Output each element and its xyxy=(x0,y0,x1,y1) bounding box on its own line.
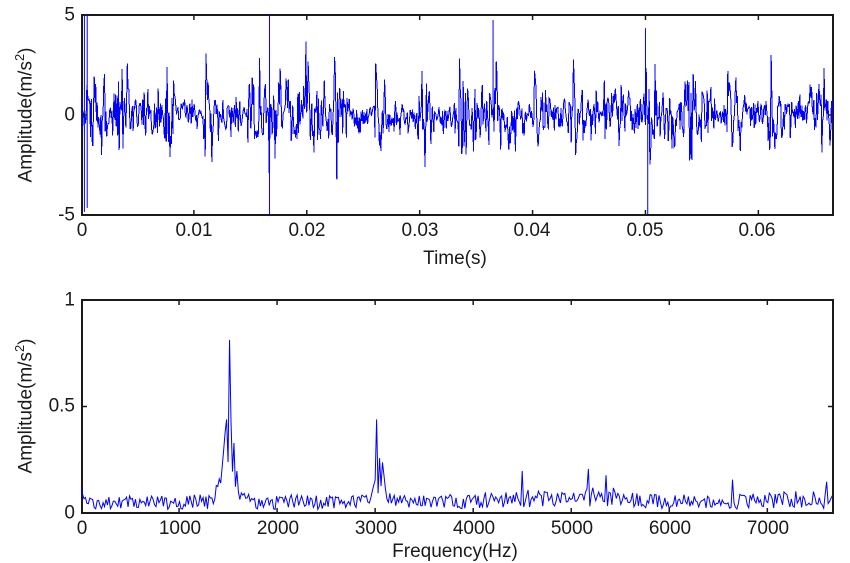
frequency-yaxis-label-base: Amplitude(m/s xyxy=(16,352,37,473)
time-yaxis-label-tail: ) xyxy=(16,48,37,54)
freq-xtick-0: 0 xyxy=(77,519,88,538)
freq-xtick-6000: 6000 xyxy=(649,519,691,538)
time-xtick-0.06: 0.06 xyxy=(739,221,776,240)
time-xaxis-label: Time(s) xyxy=(423,249,487,268)
time-ytick-minus5: -5 xyxy=(58,206,75,225)
freq-ytick-1: 1 xyxy=(64,291,75,310)
frequency-yaxis-label-tail: ) xyxy=(16,339,37,345)
freq-ytick-0: 0 xyxy=(64,504,75,523)
time-ytick-0: 0 xyxy=(64,106,75,125)
frequency-xaxis-label: Frequency(Hz) xyxy=(392,542,518,561)
freq-xtick-7000: 7000 xyxy=(747,519,789,538)
figure-canvas: 5 0 -5 0 0.01 0.02 0.03 0.04 0.05 0.06 T… xyxy=(0,0,850,563)
time-xtick-0.03: 0.03 xyxy=(402,221,439,240)
time-xtick-0.02: 0.02 xyxy=(289,221,326,240)
freq-xtick-5000: 5000 xyxy=(551,519,593,538)
freq-xtick-4000: 4000 xyxy=(453,519,495,538)
time-xtick-0.04: 0.04 xyxy=(514,221,551,240)
frequency-yaxis-label-exponent: 2 xyxy=(12,345,27,352)
frequency-spectrum-plot xyxy=(81,299,834,514)
frequency-yaxis-label: Amplitude(m/s2) xyxy=(17,339,36,474)
time-domain-signal-plot xyxy=(81,14,834,216)
freq-ytick-0.5: 0.5 xyxy=(49,397,75,416)
time-xtick-0.05: 0.05 xyxy=(627,221,664,240)
time-xtick-0.01: 0.01 xyxy=(176,221,213,240)
time-yaxis-label-exponent: 2 xyxy=(12,54,27,61)
freq-xtick-3000: 3000 xyxy=(355,519,397,538)
time-yaxis-label-base: Amplitude(m/s xyxy=(16,61,37,182)
time-domain-axes xyxy=(81,14,834,216)
time-ytick-5: 5 xyxy=(64,6,75,25)
time-yaxis-label: Amplitude(m/s2) xyxy=(17,48,36,183)
time-xtick-0: 0 xyxy=(77,221,88,240)
freq-xtick-2000: 2000 xyxy=(257,519,299,538)
freq-xtick-1000: 1000 xyxy=(159,519,201,538)
frequency-domain-axes xyxy=(81,299,834,514)
